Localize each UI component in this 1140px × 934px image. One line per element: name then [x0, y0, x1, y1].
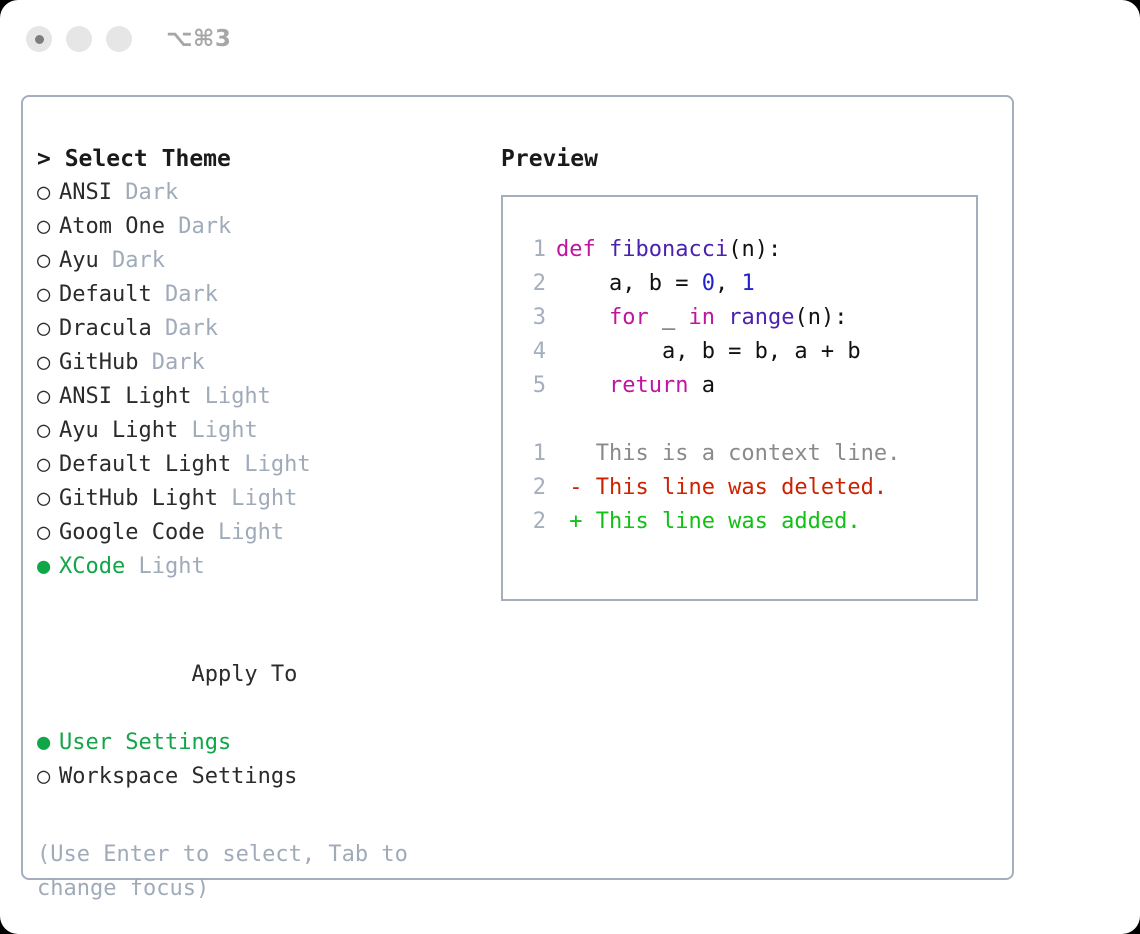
keyboard-hint: (Use Enter to select, Tab to change focu…: [37, 838, 437, 906]
radio-unselected-icon: ○: [37, 278, 59, 312]
apply-to-spacer: [169, 658, 191, 692]
line-number: 5: [516, 369, 546, 403]
theme-option-label: XCode: [59, 554, 125, 579]
code-token-num: 1: [741, 271, 754, 296]
code-sample: 1def fibonacci(n):2 a, b = 0, 13 for _ i…: [516, 233, 976, 403]
code-line: 2 a, b = 0, 1: [516, 267, 976, 301]
theme-option-default[interactable]: ○Default Dark: [37, 278, 497, 312]
theme-option-kind: Light: [218, 486, 297, 511]
apply-to-option-label: Workspace Settings: [59, 764, 297, 789]
code-token-fn: range: [728, 305, 794, 330]
theme-option-kind: Dark: [165, 214, 231, 239]
title-bar: ⌥⌘3: [0, 0, 1140, 78]
code-line: 1def fibonacci(n):: [516, 233, 976, 267]
code-line: 5 return a: [516, 369, 976, 403]
radio-unselected-icon: ○: [37, 176, 59, 210]
diff-line: 1 This is a context line.: [516, 437, 976, 471]
radio-unselected-icon: ○: [37, 516, 59, 550]
theme-option-label: Default: [59, 282, 152, 307]
line-number: 4: [516, 335, 546, 369]
theme-option-default-light[interactable]: ○Default Light Light: [37, 448, 497, 482]
line-number: 2: [516, 267, 546, 301]
radio-unselected-icon: ○: [37, 312, 59, 346]
theme-option-kind: Dark: [138, 350, 204, 375]
code-token-pl: (n):: [728, 237, 781, 262]
theme-option-ayu[interactable]: ○Ayu Dark: [37, 244, 497, 278]
theme-option-label: GitHub Light: [59, 486, 218, 511]
code-line: 3 for _ in range(n):: [516, 301, 976, 335]
code-token-ctx: This is a context line.: [556, 441, 900, 466]
theme-option-kind: Light: [125, 554, 204, 579]
theme-option-label: Ayu Light: [59, 418, 178, 443]
diff-line: 2 - This line was deleted.: [516, 471, 976, 505]
radio-selected-icon: ●: [37, 550, 59, 584]
traffic-light-maximize[interactable]: [106, 26, 132, 52]
theme-option-google-code[interactable]: ○Google Code Light: [37, 516, 497, 550]
theme-option-label: Default Light: [59, 452, 231, 477]
apply-to-option-user-settings[interactable]: ●User Settings: [37, 726, 497, 760]
theme-option-kind: Dark: [112, 180, 178, 205]
theme-option-label: GitHub: [59, 350, 138, 375]
theme-option-label: ANSI: [59, 180, 112, 205]
apply-to-option-workspace-settings[interactable]: ○Workspace Settings: [37, 760, 497, 794]
line-number: 1: [516, 437, 546, 471]
theme-option-kind: Light: [231, 452, 310, 477]
theme-option-kind: Dark: [152, 316, 218, 341]
traffic-light-dot-icon: [35, 35, 44, 44]
code-token-pl: a, b =: [556, 271, 702, 296]
panel-columns: > Select Theme ○ANSI Dark○Atom One Dark○…: [23, 97, 1012, 878]
code-token-add: + This line was added.: [556, 509, 861, 534]
theme-option-kind: Dark: [99, 248, 165, 273]
radio-unselected-icon: ○: [37, 448, 59, 482]
keyboard-shortcut-label: ⌥⌘3: [166, 26, 231, 52]
apply-to-list: ●User Settings○Workspace Settings: [37, 726, 497, 794]
theme-option-kind: Light: [191, 384, 270, 409]
code-token-pl: [556, 305, 609, 330]
traffic-lights: [26, 26, 132, 52]
line-number: 3: [516, 301, 546, 335]
apply-to-option-label: User Settings: [59, 730, 231, 755]
code-token-pl: a, b = b, a + b: [556, 339, 861, 364]
line-number: 2: [516, 471, 546, 505]
theme-option-github[interactable]: ○GitHub Dark: [37, 346, 497, 380]
theme-option-label: Google Code: [59, 520, 205, 545]
code-line: 4 a, b = b, a + b: [516, 335, 976, 369]
diff-sample: 1 This is a context line.2 - This line w…: [516, 437, 976, 539]
radio-unselected-icon: ○: [37, 760, 59, 794]
theme-option-kind: Light: [205, 520, 284, 545]
code-token-num: 0: [702, 271, 715, 296]
theme-option-label: Atom One: [59, 214, 165, 239]
code-token-fn: fibonacci: [609, 237, 728, 262]
theme-option-ansi[interactable]: ○ANSI Dark: [37, 176, 497, 210]
apply-to-title: Apply To: [37, 624, 497, 726]
theme-option-ayu-light[interactable]: ○Ayu Light Light: [37, 414, 497, 448]
code-token-pl: [556, 373, 609, 398]
theme-option-kind: Dark: [152, 282, 218, 307]
code-token-pl: _: [649, 305, 689, 330]
main-panel: > Select Theme ○ANSI Dark○Atom One Dark○…: [21, 95, 1014, 880]
theme-list: ○ANSI Dark○Atom One Dark○Ayu Dark○Defaul…: [37, 176, 497, 584]
theme-option-label: Dracula: [59, 316, 152, 341]
preview-column: Preview 1def fibonacci(n):2 a, b = 0, 13…: [501, 142, 1001, 601]
code-token-del: - This line was deleted.: [556, 475, 887, 500]
apply-to-label: Apply To: [191, 662, 297, 687]
theme-option-dracula[interactable]: ○Dracula Dark: [37, 312, 497, 346]
line-number: 2: [516, 505, 546, 539]
code-token-kw: def: [556, 237, 609, 262]
traffic-light-minimize[interactable]: [66, 26, 92, 52]
radio-unselected-icon: ○: [37, 482, 59, 516]
radio-unselected-icon: ○: [37, 380, 59, 414]
code-token-pl: ,: [715, 271, 742, 296]
radio-selected-icon: ●: [37, 726, 59, 760]
radio-unselected-icon: ○: [37, 414, 59, 448]
radio-unselected-icon: ○: [37, 346, 59, 380]
theme-option-github-light[interactable]: ○GitHub Light Light: [37, 482, 497, 516]
theme-option-label: ANSI Light: [59, 384, 191, 409]
theme-option-kind: Light: [178, 418, 257, 443]
code-token-pl: a: [688, 373, 715, 398]
preview-title: Preview: [501, 142, 1001, 176]
code-token-kw: return: [609, 373, 688, 398]
radio-unselected-icon: ○: [37, 210, 59, 244]
code-token-pl: [715, 305, 728, 330]
code-token-kw: in: [688, 305, 715, 330]
code-diff-spacer: [516, 403, 976, 437]
diff-line: 2 + This line was added.: [516, 505, 976, 539]
preview-box: 1def fibonacci(n):2 a, b = 0, 13 for _ i…: [501, 195, 978, 601]
theme-option-xcode[interactable]: ●XCode Light: [37, 550, 497, 584]
theme-option-atom-one[interactable]: ○Atom One Dark: [37, 210, 497, 244]
traffic-light-close[interactable]: [26, 26, 52, 52]
code-token-kw: for: [609, 305, 649, 330]
select-theme-title: > Select Theme: [37, 142, 497, 176]
code-token-pl: (n):: [794, 305, 847, 330]
theme-selector-column: > Select Theme ○ANSI Dark○Atom One Dark○…: [37, 142, 497, 906]
theme-option-ansi-light[interactable]: ○ANSI Light Light: [37, 380, 497, 414]
radio-unselected-icon: ○: [37, 244, 59, 278]
app-window: ⌥⌘3 > Select Theme ○ANSI Dark○Atom One D…: [0, 0, 1140, 934]
theme-option-label: Ayu: [59, 248, 99, 273]
line-number: 1: [516, 233, 546, 267]
